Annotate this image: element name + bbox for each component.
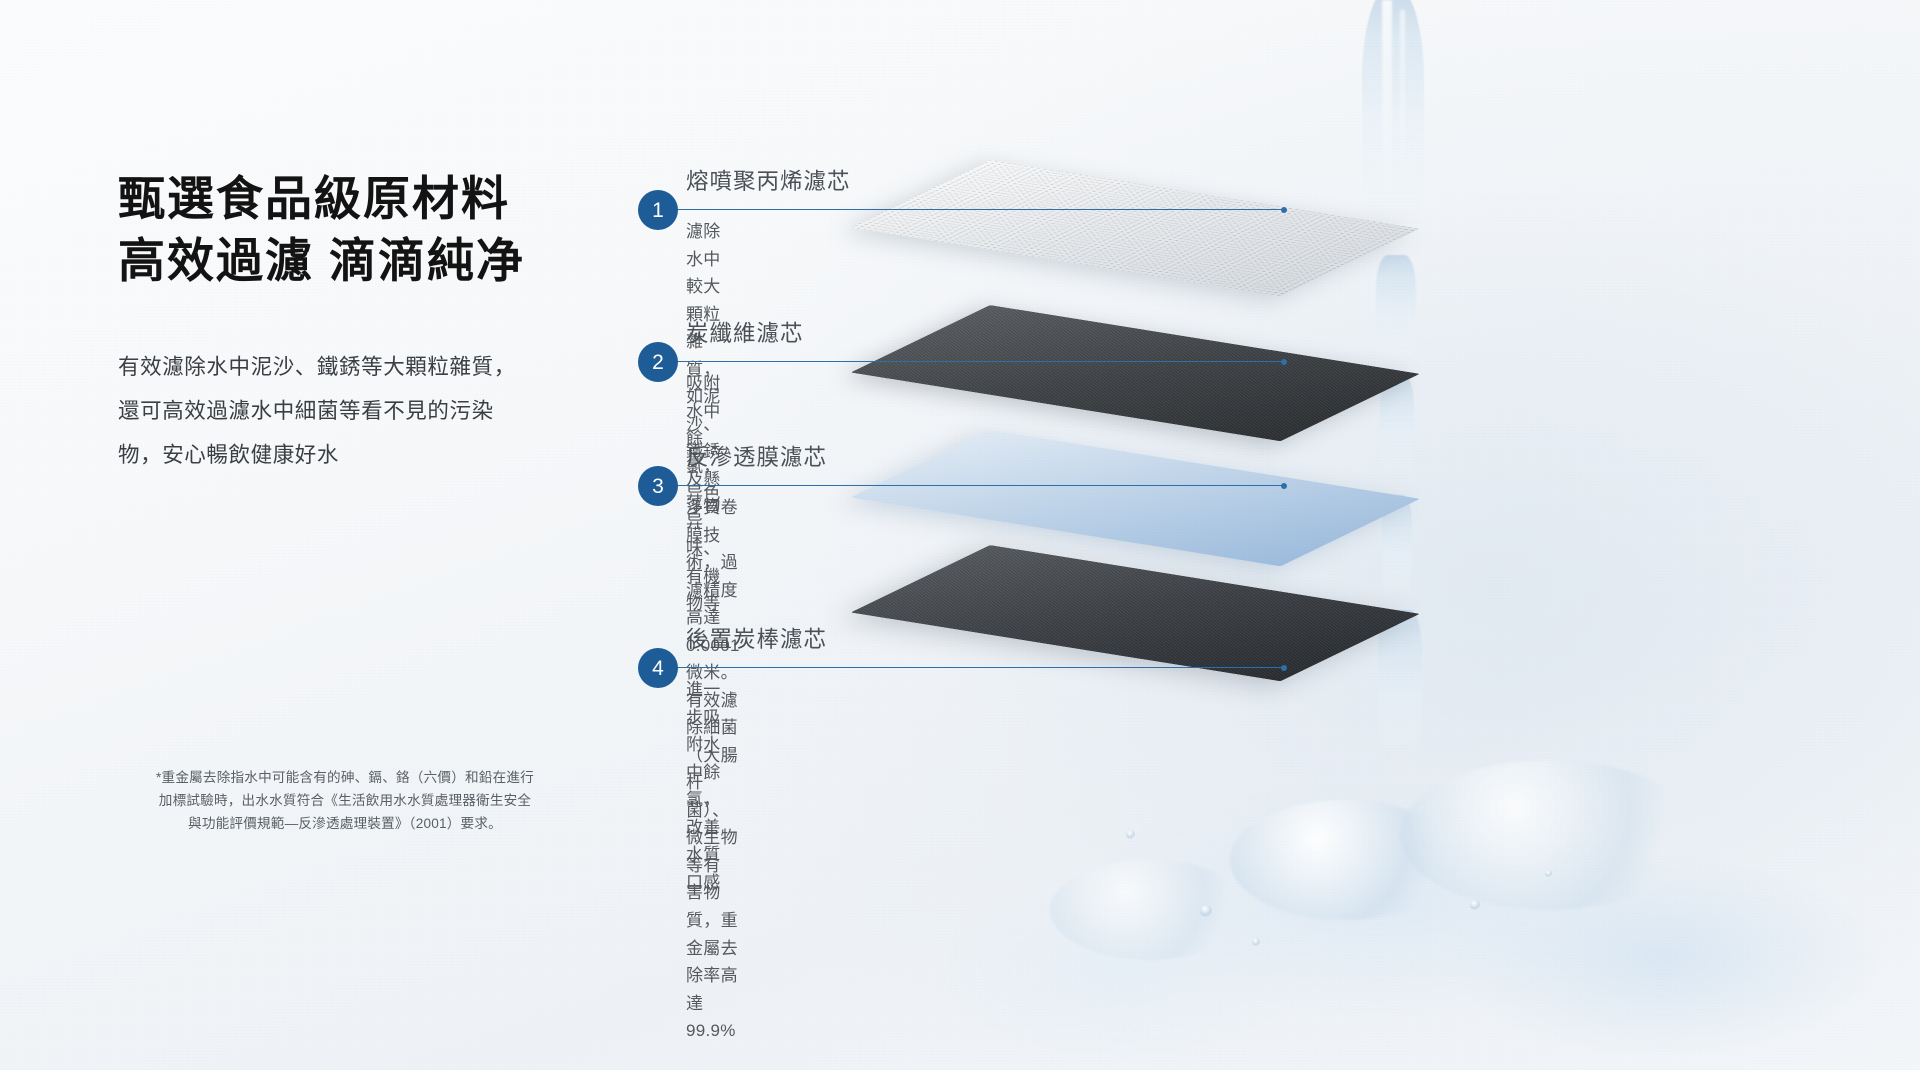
- water-streak: [1400, 10, 1405, 170]
- callout-title-2: 炭纖維濾芯: [686, 316, 804, 348]
- leader-endpoint-dot: [1281, 665, 1287, 671]
- hero-copy: 甄選食品級原材料 高效過濾 滴滴純净 有效濾除水中泥沙、鐵銹等大顆粒雜質， 還可…: [118, 168, 638, 478]
- callout-description-4: 進一步吸附水中餘氯，改善水質口感: [686, 676, 721, 896]
- water-droplet: [1252, 938, 1260, 946]
- plate-surface: [851, 545, 1421, 681]
- callout-badge-3: 3: [638, 466, 678, 506]
- callout-title-4: 後置炭棒濾芯: [686, 622, 827, 654]
- callout-title-1: 熔噴聚丙烯濾芯: [686, 164, 851, 196]
- water-droplet: [1470, 900, 1480, 910]
- leader-endpoint-dot: [1281, 359, 1287, 365]
- leader-endpoint-dot: [1281, 483, 1287, 489]
- callout-leader-line-3: [670, 485, 1284, 486]
- callout-leader-line-2: [670, 361, 1284, 362]
- product-artwork: [930, 0, 1920, 1070]
- plate-surface: [851, 305, 1421, 441]
- product-feature-slide: 甄選食品級原材料 高效過濾 滴滴純净 有效濾除水中泥沙、鐵銹等大顆粒雜質， 還可…: [0, 0, 1920, 1070]
- water-droplet: [1200, 905, 1212, 917]
- callout-badge-4: 4: [638, 648, 678, 688]
- water-droplet: [1126, 830, 1135, 839]
- callout-leader-line-1: [670, 209, 1284, 210]
- callout-badge-2: 2: [638, 342, 678, 382]
- callout-title-3: 反滲透膜濾芯: [686, 440, 827, 472]
- legal-footnote: *重金屬去除指水中可能含有的砷、鎘、鉻（六價）和鉛在進行 加標試驗時，出水水質符…: [105, 766, 585, 835]
- plate-surface: [851, 160, 1421, 296]
- callout-badge-1: 1: [638, 190, 678, 230]
- water-splash: [1400, 760, 1700, 910]
- callout-leader-line-4: [670, 667, 1284, 668]
- water-splash: [1050, 860, 1250, 960]
- leader-endpoint-dot: [1281, 207, 1287, 213]
- hero-description: 有效濾除水中泥沙、鐵銹等大顆粒雜質， 還可高效過濾水中細菌等看不見的污染 物，安…: [118, 346, 638, 478]
- page-title: 甄選食品級原材料 高效過濾 滴滴純净: [118, 168, 638, 292]
- water-droplet: [1545, 870, 1552, 877]
